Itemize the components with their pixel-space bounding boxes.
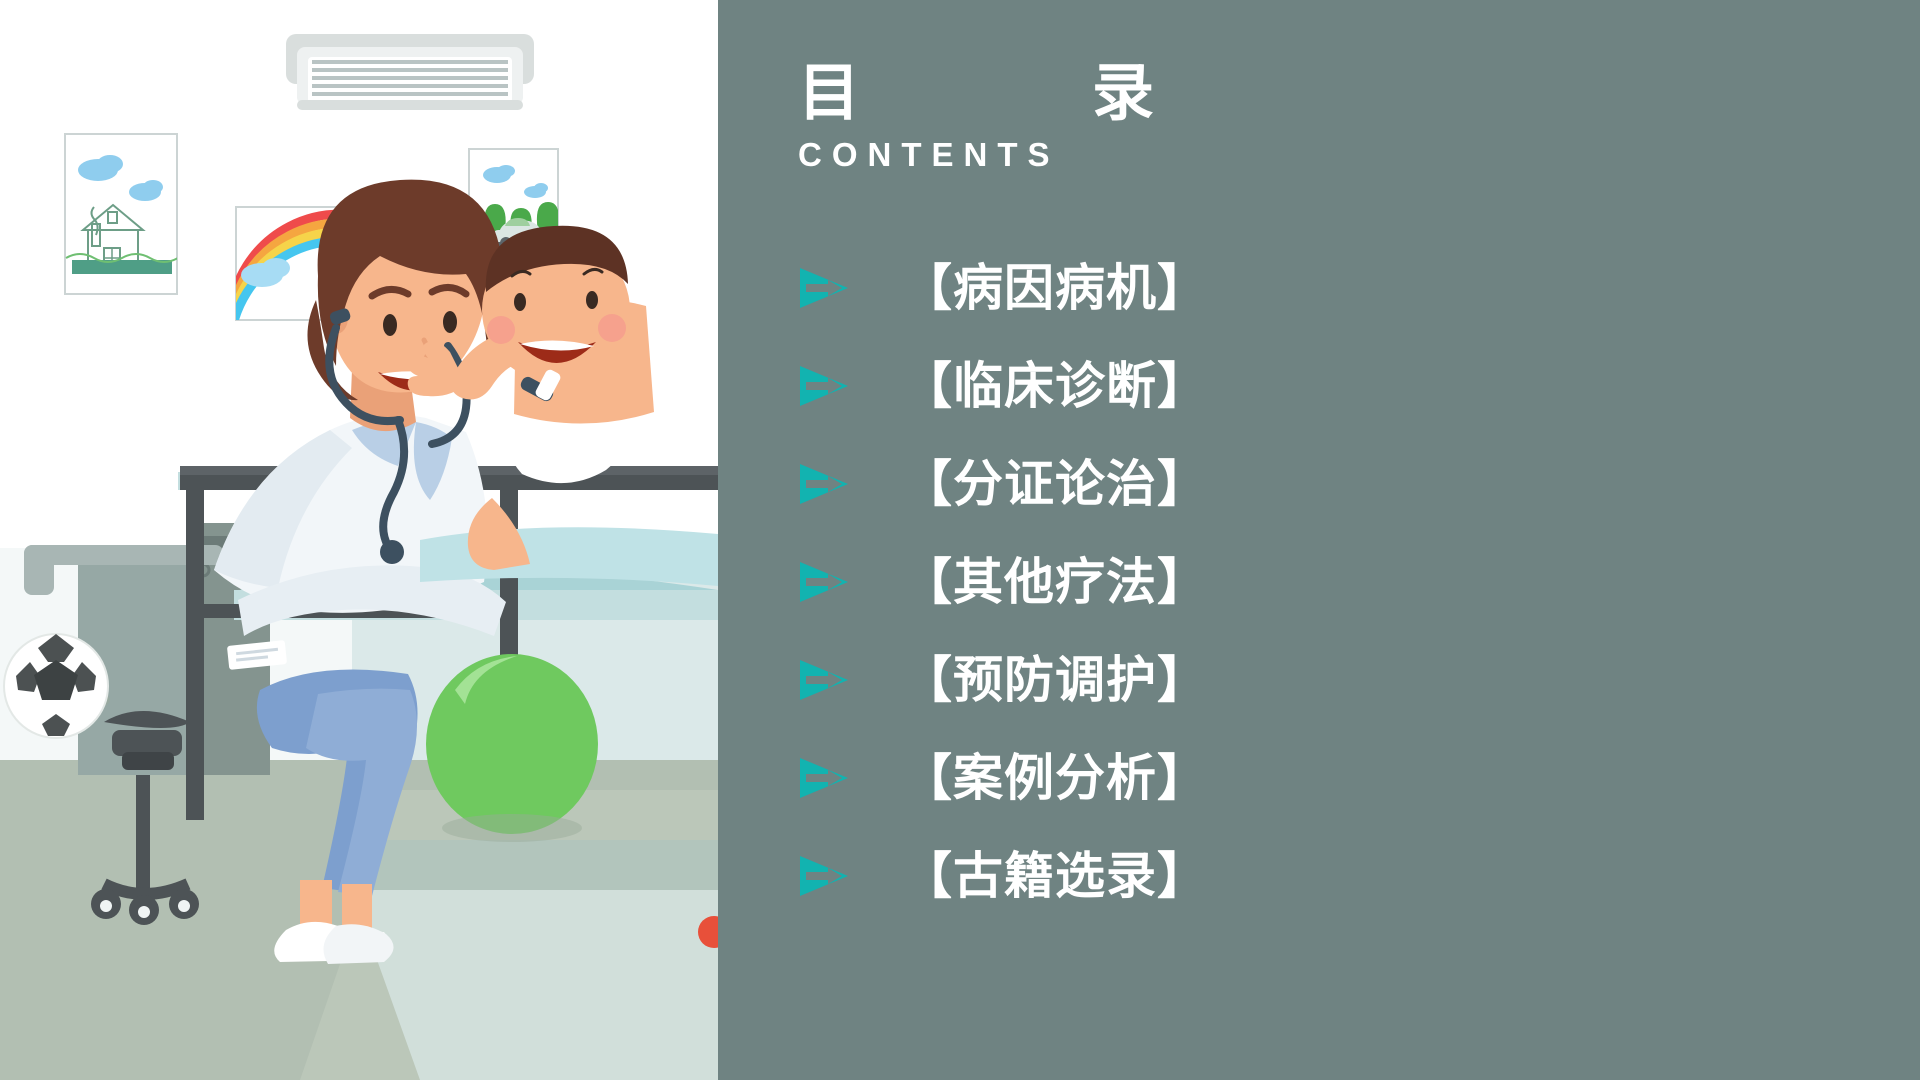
- menu-item-7[interactable]: 【古籍选录】: [798, 846, 1798, 906]
- menu-item-2[interactable]: 【临床诊断】: [798, 356, 1798, 416]
- menu-item-label: 【分证论治】: [902, 459, 1208, 509]
- menu-item-label: 【古籍选录】: [902, 851, 1208, 901]
- menu-item-3[interactable]: 【分证论治】: [798, 454, 1798, 514]
- menu-item-label: 【其他疗法】: [902, 557, 1208, 607]
- menu-item-4[interactable]: 【其他疗法】: [798, 552, 1798, 612]
- double-chevron-right-icon: [798, 854, 850, 898]
- air-conditioner-icon: [286, 34, 534, 110]
- contents-panel: 目 录 CONTENTS 【病因病机】 【临床诊断】: [718, 0, 1920, 1080]
- page-title: 目 录: [798, 62, 1498, 124]
- page-subtitle: CONTENTS: [798, 138, 1498, 171]
- double-chevron-right-icon: [798, 364, 850, 408]
- contents-title-block: 目 录 CONTENTS: [798, 62, 1498, 171]
- wall-picture-house-icon: [65, 134, 178, 294]
- double-chevron-right-icon: [798, 462, 850, 506]
- menu-item-label: 【案例分析】: [902, 753, 1208, 803]
- double-chevron-right-icon: [798, 658, 850, 702]
- menu-item-5[interactable]: 【预防调护】: [798, 650, 1798, 710]
- soccer-ball-icon: [4, 634, 110, 738]
- double-chevron-right-icon: [798, 560, 850, 604]
- menu-item-6[interactable]: 【案例分析】: [798, 748, 1798, 808]
- contents-slide: 目 录 CONTENTS 【病因病机】 【临床诊断】: [0, 0, 1920, 1080]
- menu-item-label: 【预防调护】: [902, 655, 1208, 705]
- menu-item-label: 【病因病机】: [902, 263, 1208, 313]
- double-chevron-right-icon: [798, 266, 850, 310]
- menu-item-label: 【临床诊断】: [902, 361, 1208, 411]
- double-chevron-right-icon: [798, 756, 850, 800]
- pediatrician-examining-baby-illustration: [0, 0, 718, 1080]
- menu-item-1[interactable]: 【病因病机】: [798, 258, 1798, 318]
- contents-menu: 【病因病机】 【临床诊断】 【分证论治】: [798, 258, 1798, 944]
